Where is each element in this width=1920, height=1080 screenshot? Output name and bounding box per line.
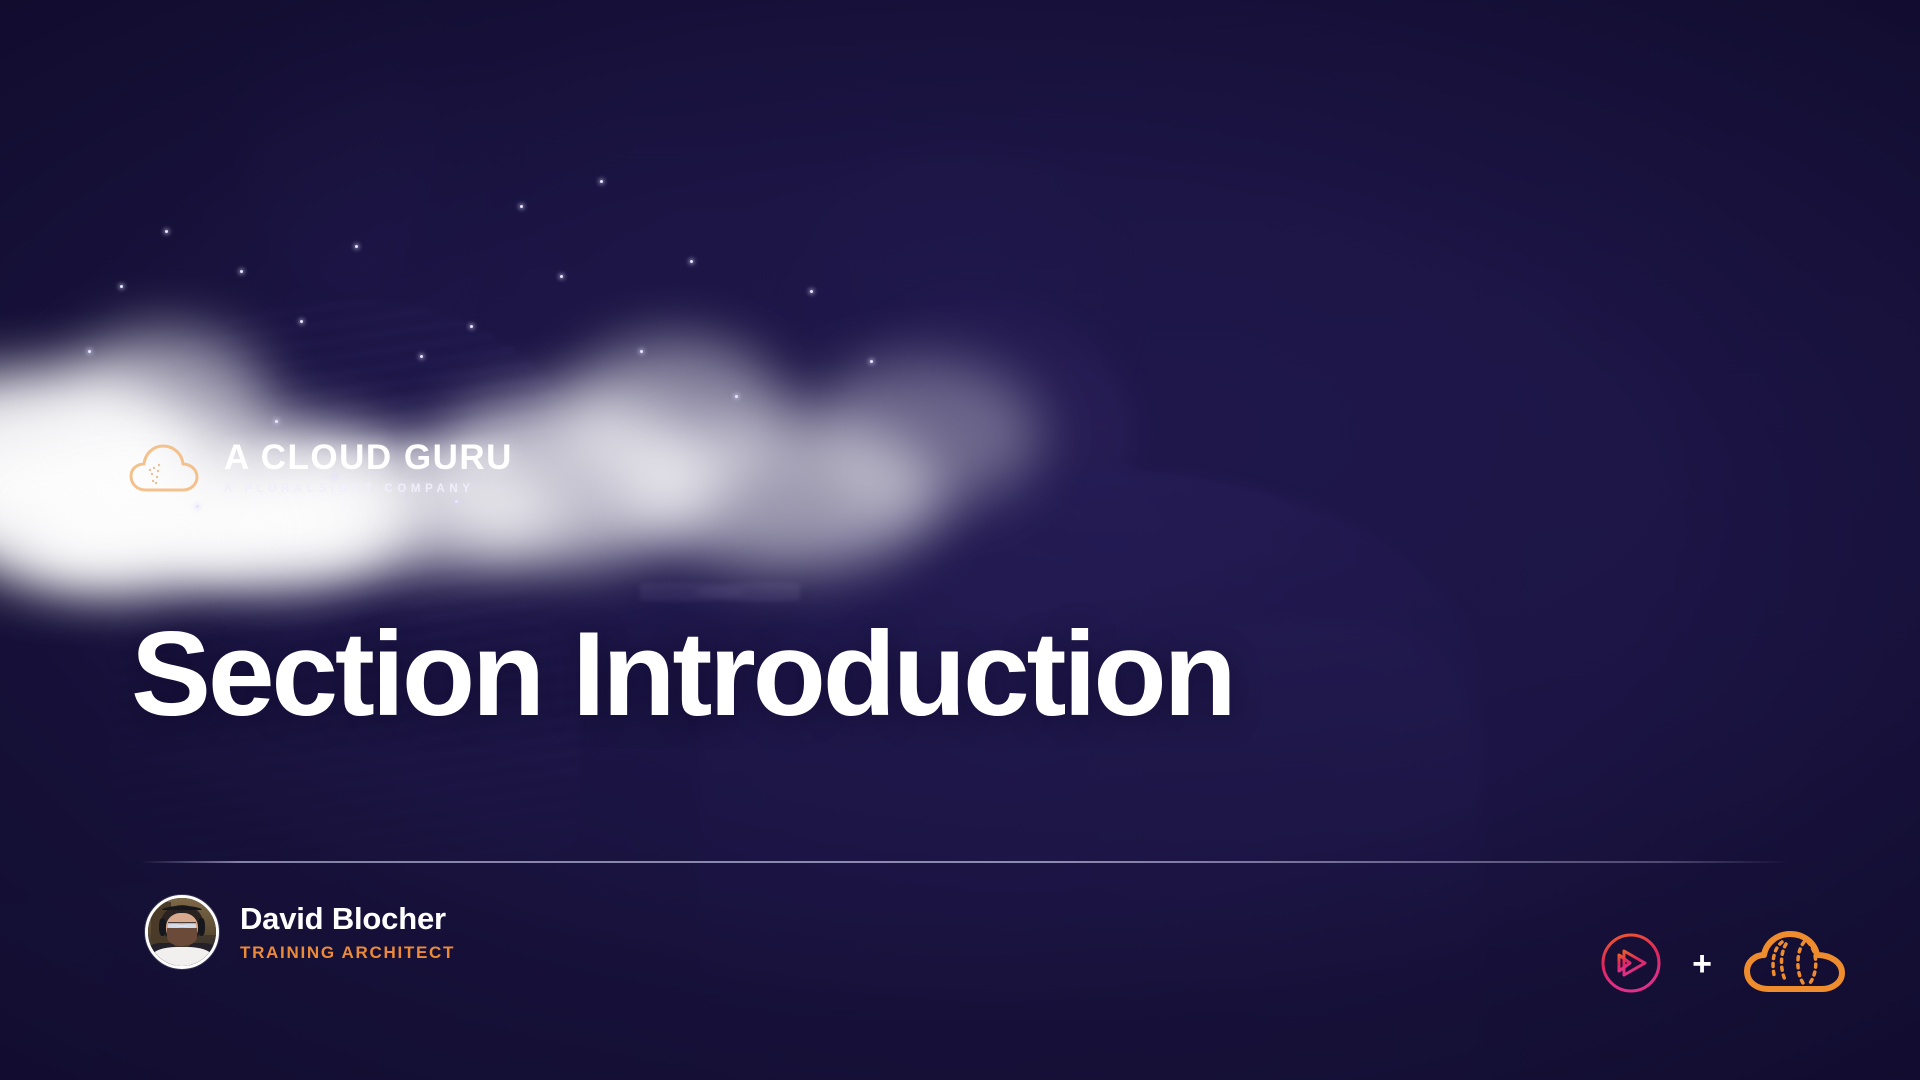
acg-cloud-outline-icon xyxy=(128,440,202,496)
page-title: Section Introduction xyxy=(131,614,1234,734)
acg-logo-subtitle: A PLURALSIGHT COMPANY xyxy=(224,484,513,496)
acloudguru-logo-lockup: A CLOUD GURU A PLURALSIGHT COMPANY xyxy=(128,440,513,496)
presenter-name: David Blocher xyxy=(240,903,455,936)
pluralsight-play-circle-icon xyxy=(1600,932,1662,994)
avatar xyxy=(145,895,219,969)
acg-logo-title: A CLOUD GURU xyxy=(224,440,513,475)
mist-band xyxy=(0,300,1100,560)
brand-separator-plus: + xyxy=(1692,947,1712,981)
acloudguru-cloud-icon xyxy=(1742,930,1852,996)
presenter-block: David Blocher TRAINING ARCHITECT xyxy=(145,895,455,969)
slide-canvas: A CLOUD GURU A PLURALSIGHT COMPANY Secti… xyxy=(0,0,1920,1080)
mist-sparkles xyxy=(0,300,1100,560)
presenter-role: TRAINING ARCHITECT xyxy=(240,944,455,961)
footer-brand-pair: + xyxy=(1600,930,1852,996)
presenter-text: David Blocher TRAINING ARCHITECT xyxy=(240,903,455,961)
footer-divider xyxy=(140,861,1790,863)
acg-logo-wordmark: A CLOUD GURU A PLURALSIGHT COMPANY xyxy=(224,440,513,496)
